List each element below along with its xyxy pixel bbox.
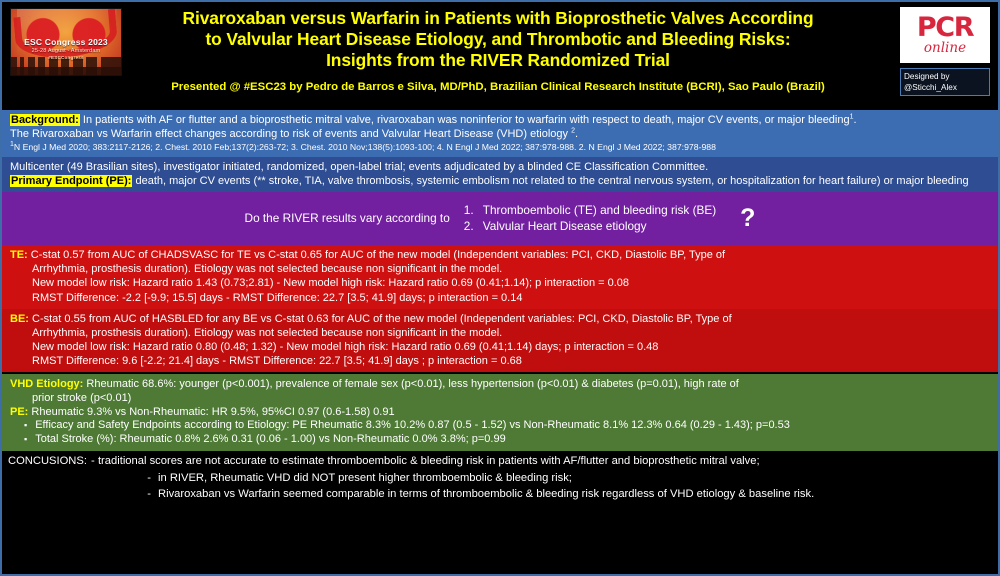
methods-section: Multicenter (49 Brasilian sites), invest…	[2, 157, 998, 192]
page-title: Rivaroxaban versus Warfarin in Patients …	[130, 8, 866, 72]
primary-endpoint-label: Primary Endpoint (PE):	[10, 175, 132, 187]
list-item: - Rivaroxaban vs Warfarin seemed compara…	[8, 487, 992, 502]
page-title-line-3: Insights from the RIVER Randomized Trial	[130, 50, 866, 71]
esc-logo-line3: #ESCCongress	[11, 55, 121, 61]
title-block: Rivaroxaban versus Warfarin in Patients …	[2, 2, 998, 93]
be-line-2: Arrhythmia, prosthesis duration). Etiolo…	[10, 326, 990, 340]
be-line-4: RMST Difference: 9.6 [-2.2; 21.4] days -…	[10, 354, 990, 368]
list-item: 2. Valvular Heart Disease etiology	[464, 218, 716, 234]
conclusions-dash-3: -	[8, 487, 158, 502]
designed-by-badge: Designed by @Sticchi_Alex	[900, 68, 990, 96]
conclusions-item-2-text: in RIVER, Rheumatic VHD did NOT present …	[158, 471, 572, 486]
research-question-row: Do the RIVER results vary according to 1…	[10, 195, 990, 241]
page-title-line-2: to Valvular Heart Disease Etiology, and …	[130, 29, 866, 50]
list-item: - in RIVER, Rheumatic VHD did NOT presen…	[8, 471, 992, 486]
methods-line-1: Multicenter (49 Brasilian sites), invest…	[10, 160, 990, 174]
be-line-1: BE: C-stat 0.55 from AUC of HASBLED for …	[10, 312, 990, 326]
designed-by-handle: @Sticchi_Alex	[904, 82, 986, 93]
background-text-1-end: .	[854, 114, 857, 126]
list-item: 1. Thromboembolic (TE) and bleeding risk…	[464, 202, 716, 218]
esc-logo-text: ESC Congress 2023 25-28 August - Amsterd…	[11, 37, 121, 60]
background-section: Background: In patients with AF or flutt…	[2, 110, 998, 157]
primary-endpoint-text: death, major CV events (** stroke, TIA, …	[132, 175, 968, 187]
background-label: Background:	[10, 114, 80, 126]
background-text-1: In patients with AF or flutter and a bio…	[80, 114, 850, 126]
conclusions-dash-2: -	[8, 471, 158, 486]
vhd-etiology-line-2: prior stroke (p<0.01)	[10, 391, 990, 405]
background-references: 1N Engl J Med 2020; 383:2117-2126; 2. Ch…	[10, 141, 990, 153]
esc-logo-line2: 25-28 August - Amsterdam	[11, 48, 121, 55]
bullet-icon: ▪	[24, 433, 27, 447]
list-item: ▪ Efficacy and Safety Endpoints accordin…	[10, 419, 990, 433]
background-text-2: The Rivaroxaban vs Warfarin effect chang…	[10, 128, 571, 140]
conclusions-list: CONCUSIONS: - traditional scores are not…	[2, 451, 998, 504]
background-line-1: Background: In patients with AF or flutt…	[10, 113, 990, 127]
conclusions-item-3-text: Rivaroxaban vs Warfarin seemed comparabl…	[158, 487, 814, 502]
pcr-logo-wordmark: PCR	[917, 14, 973, 41]
conclusions-item-1-text: traditional scores are not accurate to e…	[98, 454, 760, 469]
poster-header: ESC Congress 2023 25-28 August - Amsterd…	[2, 2, 998, 110]
list-item: CONCUSIONS: - traditional scores are not…	[8, 454, 992, 469]
page-title-line-1: Rivaroxaban versus Warfarin in Patients …	[130, 8, 866, 29]
esc-congress-logo: ESC Congress 2023 25-28 August - Amsterd…	[10, 8, 122, 76]
vhd-pe-label: PE:	[10, 406, 28, 418]
question-mark-glyph: ?	[740, 204, 755, 233]
te-label: TE:	[10, 249, 28, 261]
pcr-online-logo: PCR online	[900, 7, 990, 63]
vhd-etiology-line-1: VHD Etiology: Rheumatic 68.6%: younger (…	[10, 377, 990, 391]
research-question-list: 1. Thromboembolic (TE) and bleeding risk…	[464, 202, 716, 235]
pcr-logo-subtext: online	[924, 42, 966, 56]
primary-endpoint-line: Primary Endpoint (PE): death, major CV e…	[10, 174, 990, 188]
background-text-2-end: .	[575, 128, 578, 140]
background-line-2: The Rivaroxaban vs Warfarin effect chang…	[10, 127, 990, 141]
be-line-3: New model low risk: Hazard ratio 0.80 (0…	[10, 340, 990, 354]
vhd-etiology-section: VHD Etiology: Rheumatic 68.6%: younger (…	[2, 374, 998, 451]
be-text-1: C-stat 0.55 from AUC of HASBLED for any …	[29, 313, 732, 325]
list-item: ▪ Total Stroke (%): Rheumatic 0.8% 2.6% …	[10, 433, 990, 447]
vhd-pe-text: Rheumatic 9.3% vs Non-Rheumatic: HR 9.5%…	[28, 406, 394, 418]
te-line-4: RMST Difference: -2.2 [-9.9; 15.5] days …	[10, 291, 990, 305]
conclusions-dash-1: -	[91, 454, 98, 469]
research-question-lead: Do the RIVER results vary according to	[245, 211, 450, 225]
skyline-base-graphic	[11, 67, 121, 75]
presented-by-line: Presented @ #ESC23 by Pedro de Barros e …	[130, 81, 866, 93]
vhd-etiology-text-1: Rheumatic 68.6%: younger (p<0.001), prev…	[83, 378, 739, 390]
te-line-1: TE: C-stat 0.57 from AUC of CHADSVASC fo…	[10, 248, 990, 262]
poster-root: ESC Congress 2023 25-28 August - Amsterd…	[0, 0, 1000, 576]
be-label: BE:	[10, 313, 29, 325]
vhd-bullet-2-text: Total Stroke (%): Rheumatic 0.8% 2.6% 0.…	[35, 433, 990, 447]
thromboembolic-risk-section: TE: C-stat 0.57 from AUC of CHADSVASC fo…	[2, 245, 998, 308]
te-text-1: C-stat 0.57 from AUC of CHADSVASC for TE…	[28, 249, 725, 261]
question-item-2-number: 2.	[464, 218, 476, 234]
designed-by-label: Designed by	[904, 71, 986, 82]
bullet-icon: ▪	[24, 419, 27, 433]
te-line-2: Arrhythmia, prosthesis duration). Etiolo…	[10, 262, 990, 276]
te-line-3: New model low risk: Hazard ratio 1.43 (0…	[10, 276, 990, 290]
conclusions-label: CONCUSIONS:	[8, 454, 91, 469]
esc-logo-line1: ESC Congress 2023	[11, 37, 121, 48]
question-item-1-label: Thromboembolic (TE) and bleeding risk (B…	[483, 202, 716, 218]
question-item-1-number: 1.	[464, 202, 476, 218]
question-item-2-label: Valvular Heart Disease etiology	[483, 218, 647, 234]
conclusions-section: CONCUSIONS: - traditional scores are not…	[2, 451, 998, 504]
vhd-pe-line: PE: Rheumatic 9.3% vs Non-Rheumatic: HR …	[10, 405, 990, 419]
research-question-section: Do the RIVER results vary according to 1…	[2, 192, 998, 245]
vhd-etiology-label: VHD Etiology:	[10, 378, 83, 390]
bleeding-risk-section: BE: C-stat 0.55 from AUC of HASBLED for …	[2, 309, 998, 372]
vhd-bullet-1-text: Efficacy and Safety Endpoints according …	[35, 419, 990, 433]
references-text: N Engl J Med 2020; 383:2117-2126; 2. Che…	[14, 142, 716, 152]
